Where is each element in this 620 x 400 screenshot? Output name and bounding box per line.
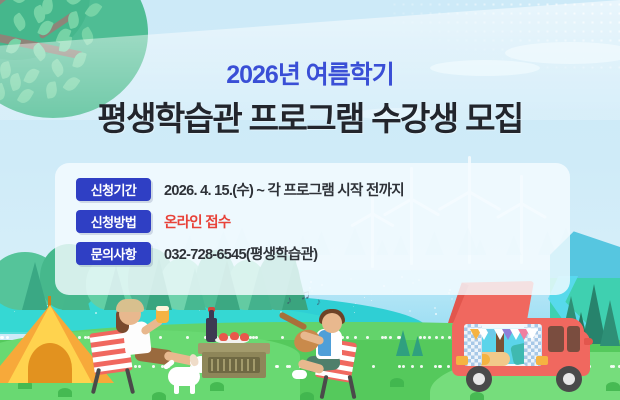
info-row-label: 신청방법	[76, 210, 151, 233]
flower-icon	[610, 365, 613, 368]
dog-leg	[190, 382, 195, 394]
flower-icon	[152, 365, 155, 368]
van-side-window	[548, 326, 564, 352]
flower-icon	[435, 336, 438, 339]
flower-icon	[249, 336, 252, 339]
info-row-label: 문의사항	[76, 242, 151, 265]
flower-icon	[411, 365, 414, 368]
dog-leg	[174, 382, 179, 394]
flower-icon	[420, 365, 423, 368]
flower-icon	[255, 336, 258, 339]
flower-icon	[159, 336, 162, 339]
flower-icon	[372, 365, 375, 368]
flower-icon	[138, 365, 141, 368]
flower-icon	[346, 336, 349, 339]
flower-icon	[186, 336, 189, 339]
banner-subtitle: 2026년 여름학기	[0, 55, 620, 91]
flower-icon	[438, 365, 441, 368]
food-icon	[230, 332, 239, 340]
flower-icon	[441, 336, 444, 339]
info-row: 신청기간2026. 4. 15.(수) ~ 각 프로그램 시작 전까지	[76, 178, 556, 201]
food-icon	[240, 333, 249, 341]
info-row-list: 신청기간2026. 4. 15.(수) ~ 각 프로그램 시작 전까지신청방법온…	[76, 178, 556, 265]
van-side-window	[567, 326, 580, 352]
bunting-flag-icon	[526, 329, 538, 340]
flower-icon	[281, 336, 284, 339]
flower-icon	[434, 365, 437, 368]
grill-icon	[208, 357, 260, 373]
info-row-label: 신청기간	[76, 178, 151, 201]
info-row-value: 032-728-6545(평생학습관)	[164, 243, 317, 264]
info-row: 신청방법온라인 접수	[76, 210, 556, 233]
flower-icon	[447, 365, 450, 368]
water-sparkle	[371, 300, 372, 301]
flower-icon	[384, 336, 387, 339]
wheel-icon	[466, 366, 492, 392]
water-sparkle	[353, 306, 354, 307]
drink-cup-icon	[156, 309, 169, 323]
music-note-icon: ♪	[316, 297, 321, 308]
van-taillight-icon	[456, 356, 468, 365]
info-row-value: 온라인 접수	[164, 211, 231, 232]
sun-hat-icon	[116, 299, 144, 312]
grass-tuft-icon	[210, 382, 224, 391]
flower-icon	[419, 336, 422, 339]
van-taillight-icon	[536, 356, 548, 365]
flower-icon	[1, 336, 4, 339]
flower-icon	[6, 336, 9, 339]
guitarist-shoe	[292, 370, 307, 379]
page-title: 평생학습관 프로그램 수강생 모집	[0, 92, 620, 140]
water-sparkle	[409, 310, 411, 312]
guitarist-head	[322, 313, 342, 333]
van-mirror-icon	[584, 338, 593, 345]
grass-tuft-icon	[606, 382, 620, 391]
water-sparkle	[14, 311, 15, 312]
info-row-value: 2026. 4. 15.(수) ~ 각 프로그램 시작 전까지	[164, 179, 404, 200]
flower-icon	[402, 365, 405, 368]
wheel-icon	[556, 366, 582, 392]
water-sparkle	[435, 313, 437, 315]
flower-icon	[78, 336, 81, 339]
flower-icon	[134, 365, 137, 368]
flower-icon	[366, 336, 369, 339]
flower-icon	[354, 336, 357, 339]
flower-icon	[423, 336, 426, 339]
drink-foam	[156, 306, 169, 311]
grass-tuft-icon	[470, 392, 484, 400]
water-sparkle	[95, 312, 97, 314]
water-sparkle	[199, 310, 200, 311]
food-icon	[219, 333, 228, 341]
water-sparkle	[364, 297, 365, 298]
flower-icon	[428, 336, 431, 339]
grass-tuft-icon	[300, 392, 314, 400]
flower-icon	[448, 336, 451, 339]
grass-tuft-icon	[390, 378, 404, 387]
music-note-icon: ♪	[286, 293, 292, 307]
info-row: 문의사항032-728-6545(평생학습관)	[76, 242, 556, 265]
grass-tuft-icon	[152, 392, 166, 400]
grass-tuft-icon	[58, 388, 72, 397]
flower-icon	[84, 336, 87, 339]
water-sparkle	[354, 312, 355, 313]
flower-icon	[389, 336, 392, 339]
promo-banner: ♪ ♫ ♪ 신청기간2026. 4. 15.(수) ~ 각 프로그램 시작 전까…	[0, 0, 620, 400]
flower-icon	[276, 365, 279, 368]
flower-icon	[288, 365, 291, 368]
water-sparkle	[355, 303, 356, 304]
flower-icon	[381, 336, 384, 339]
water-sparkle	[434, 307, 436, 309]
flower-icon	[398, 336, 401, 339]
flower-icon	[398, 365, 401, 368]
